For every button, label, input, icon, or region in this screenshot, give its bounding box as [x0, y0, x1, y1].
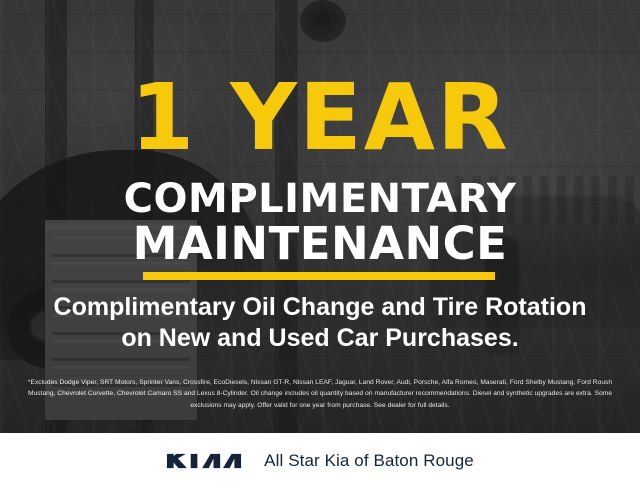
offer-line-2: on New and Used Car Purchases. [121, 324, 518, 352]
kia-logo [166, 451, 242, 471]
hero-banner: 1 YEAR COMPLIMENTARY MAINTENANCE Complim… [0, 0, 640, 433]
headline-subtitle: COMPLIMENTARY MAINTENANCE [0, 178, 640, 268]
hero-content: 1 YEAR COMPLIMENTARY MAINTENANCE Complim… [0, 0, 640, 433]
disclaimer-text: *Excludes Dodge Viper, SRT Motors, Sprin… [14, 377, 626, 411]
accent-divider [143, 272, 495, 280]
headline-year: 1 YEAR [0, 72, 640, 164]
offer-text: Complimentary Oil Change and Tire Rotati… [0, 292, 640, 354]
headline-line-2: MAINTENANCE [0, 220, 640, 268]
offer-line-1: Complimentary Oil Change and Tire Rotati… [54, 293, 587, 321]
footer-bar: All Star Kia of Baton Rouge [0, 433, 640, 488]
headline-line-1: COMPLIMENTARY [124, 176, 517, 222]
promotional-ad: 1 YEAR COMPLIMENTARY MAINTENANCE Complim… [0, 0, 640, 488]
dealer-name: All Star Kia of Baton Rouge [264, 451, 474, 471]
